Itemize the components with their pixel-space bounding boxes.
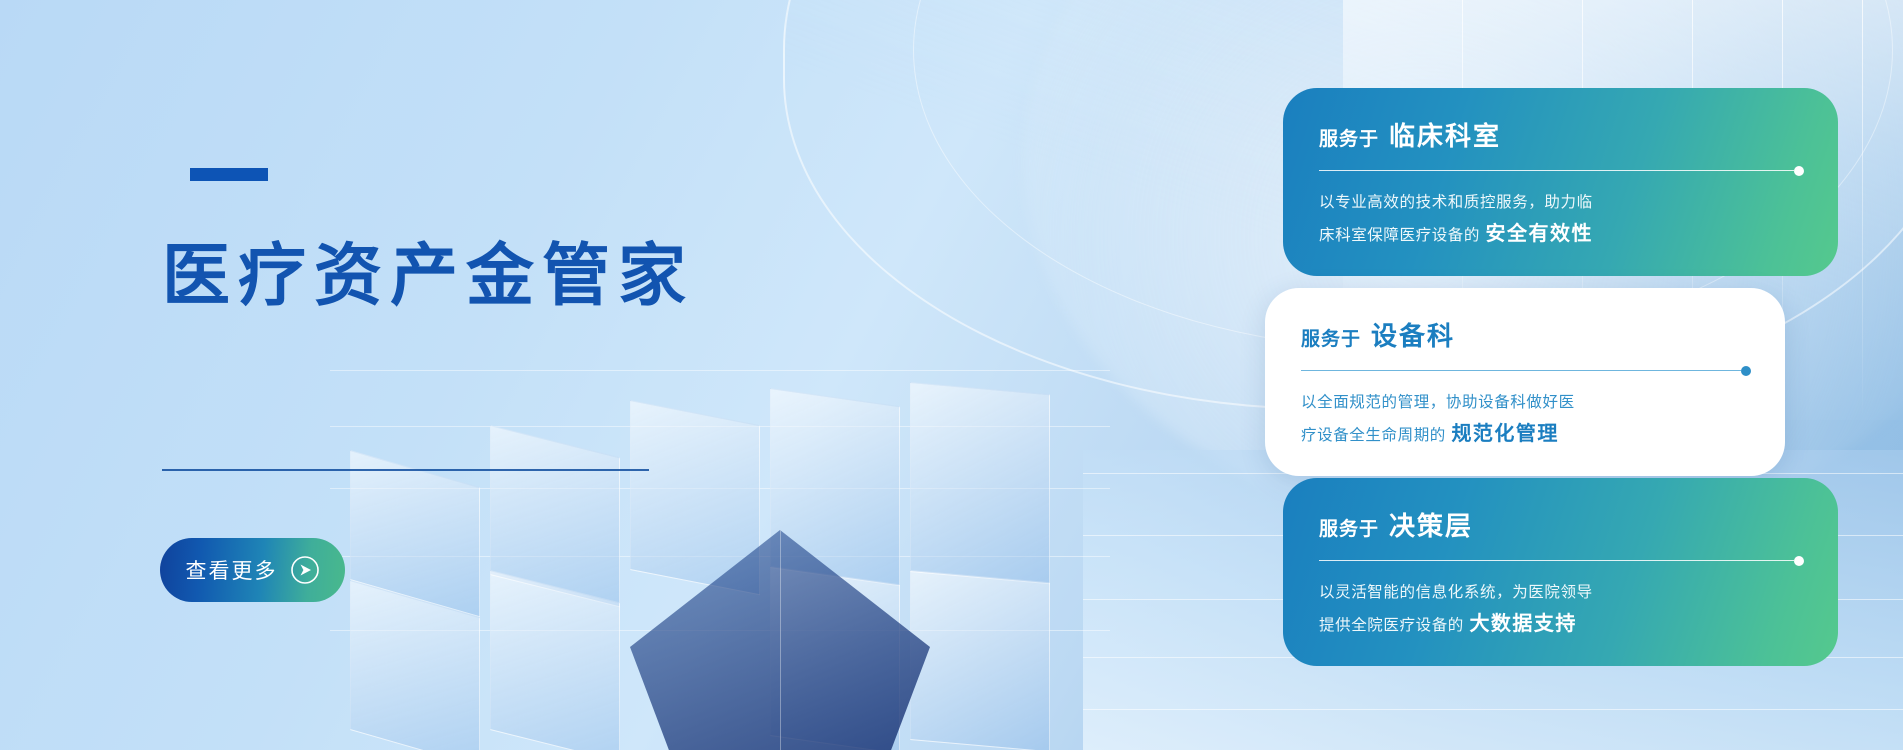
accent-bar (190, 168, 268, 181)
card-body-emphasis: 规范化管理 (1451, 421, 1559, 445)
service-card-list: 服务于 临床科室 以专业高效的技术和质控服务，助力临 床科室保障医疗设备的 安全… (1283, 0, 1903, 750)
card-body-line1: 以灵活智能的信息化系统，为医院领导 (1319, 583, 1593, 601)
service-card-equipment[interactable]: 服务于 设备科 以全面规范的管理，协助设备科做好医 疗设备全生命周期的 规范化管… (1265, 288, 1785, 476)
card-rule-line (1319, 170, 1794, 171)
service-card-clinical[interactable]: 服务于 临床科室 以专业高效的技术和质控服务，助力临 床科室保障医疗设备的 安全… (1283, 88, 1838, 276)
card-body-emphasis: 安全有效性 (1486, 221, 1594, 245)
card-body-emphasis: 大数据支持 (1469, 611, 1577, 635)
card-heading-main: 设备科 (1371, 316, 1455, 353)
card-heading-prefix: 服务于 (1301, 324, 1361, 351)
page-title: 医疗资产金管家 (162, 243, 694, 311)
hero-banner: 医疗资产金管家 查看更多 服务于 临床科室 以专业 (0, 0, 1903, 750)
card-body-line2: 提供全院医疗设备的 (1319, 616, 1464, 634)
hero-left-content: 医疗资产金管家 查看更多 (190, 0, 890, 750)
card-heading-prefix: 服务于 (1319, 514, 1379, 541)
card-body: 以全面规范的管理，协助设备科做好医 疗设备全生命周期的 规范化管理 (1301, 389, 1751, 450)
card-heading: 服务于 设备科 (1301, 316, 1751, 353)
card-rule-line (1319, 560, 1794, 561)
card-rule-dot (1794, 556, 1804, 566)
arrow-right-circle-icon (290, 555, 320, 585)
card-heading-main: 临床科室 (1389, 116, 1501, 153)
card-rule (1319, 166, 1804, 176)
card-heading-main: 决策层 (1389, 506, 1473, 543)
card-rule (1319, 556, 1804, 566)
view-more-label: 查看更多 (186, 555, 278, 585)
view-more-button[interactable]: 查看更多 (160, 538, 345, 602)
section-divider (162, 469, 649, 471)
card-body: 以灵活智能的信息化系统，为医院领导 提供全院医疗设备的 大数据支持 (1319, 579, 1804, 640)
card-body-line2: 床科室保障医疗设备的 (1319, 226, 1480, 244)
card-body-line1: 以专业高效的技术和质控服务，助力临 (1319, 193, 1593, 211)
card-rule-line (1301, 370, 1741, 371)
card-heading: 服务于 临床科室 (1319, 116, 1804, 153)
card-rule-dot (1741, 366, 1751, 376)
card-body: 以专业高效的技术和质控服务，助力临 床科室保障医疗设备的 安全有效性 (1319, 189, 1804, 250)
card-body-line1: 以全面规范的管理，协助设备科做好医 (1301, 393, 1575, 411)
card-heading: 服务于 决策层 (1319, 506, 1804, 543)
service-card-decision[interactable]: 服务于 决策层 以灵活智能的信息化系统，为医院领导 提供全院医疗设备的 大数据支… (1283, 478, 1838, 666)
card-heading-prefix: 服务于 (1319, 124, 1379, 151)
card-rule-dot (1794, 166, 1804, 176)
card-rule (1301, 366, 1751, 376)
card-body-line2: 疗设备全生命周期的 (1301, 426, 1446, 444)
